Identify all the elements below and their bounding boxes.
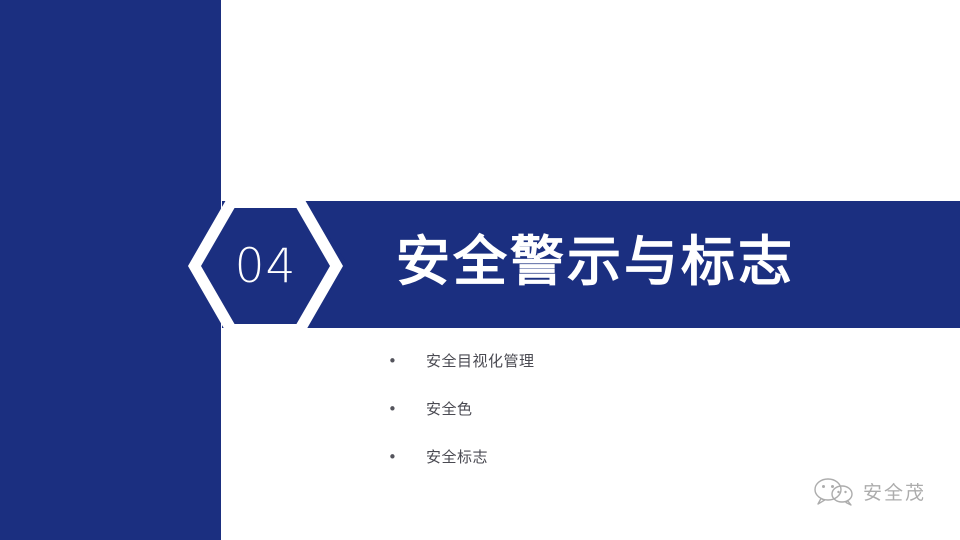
section-number: 04 bbox=[188, 196, 343, 336]
bullet-dot-icon: • bbox=[384, 450, 426, 465]
watermark-label: 安全茂 bbox=[863, 478, 926, 505]
list-item-label: 安全标志 bbox=[426, 446, 488, 467]
list-item: • 安全目视化管理 bbox=[384, 350, 535, 398]
list-item: • 安全标志 bbox=[384, 446, 535, 494]
slide-canvas: 04 安全警示与标志 • 安全目视化管理 • 安全色 • 安全标志 安全茂 bbox=[0, 0, 960, 540]
bullet-dot-icon: • bbox=[384, 354, 426, 369]
list-item-label: 安全目视化管理 bbox=[426, 350, 535, 371]
wechat-icon bbox=[812, 476, 856, 506]
agenda-list: • 安全目视化管理 • 安全色 • 安全标志 bbox=[384, 350, 535, 494]
watermark: 安全茂 bbox=[812, 476, 926, 506]
slide-title: 安全警示与标志 bbox=[396, 230, 795, 294]
section-number-badge: 04 bbox=[188, 196, 343, 336]
list-item: • 安全色 bbox=[384, 398, 535, 446]
list-item-label: 安全色 bbox=[426, 398, 473, 419]
bullet-dot-icon: • bbox=[384, 402, 426, 417]
